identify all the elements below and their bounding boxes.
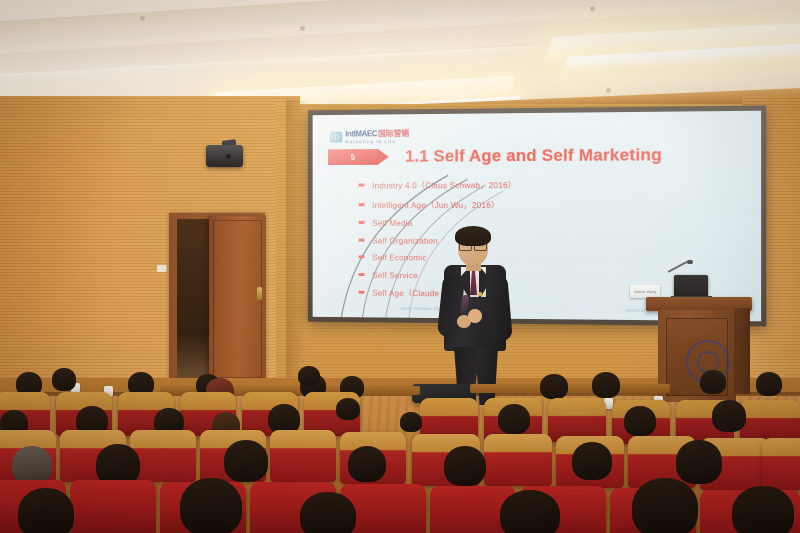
auditorium-seat[interactable] [270,430,336,482]
list-item: Self Media [359,218,517,228]
light-switch-icon[interactable] [157,265,166,272]
bullet-icon [359,291,365,294]
audience-head [336,398,360,420]
bullet-icon [359,273,365,276]
audience-head [624,406,656,436]
audience-head [180,478,242,533]
audience-head [756,372,782,396]
audience-head [18,488,74,533]
bullet-icon [359,238,365,241]
screen-logo-icon [330,131,342,142]
presenter-hand [468,309,482,323]
audience-head [498,404,530,434]
audience-head [712,400,746,432]
auditorium-seat[interactable] [130,430,196,482]
slide-title: 1.1 Self Age and Self Marketing [405,145,662,167]
bullet-icon [359,255,365,258]
audience-head [52,368,76,391]
door-handle-icon[interactable] [257,287,262,300]
audience-head [700,370,726,394]
bullet-icon [359,203,365,206]
ceiling-fixture-icon [606,88,611,93]
lecture-hall-photo: IntlMAEC 国际营销 Marketing Is Life 5 1.1 Se… [0,0,800,533]
bullet-text: Self Economic [372,252,426,262]
presenter [432,229,524,404]
bullet-text: Intelligent Age（Jun Wu，2016） [372,199,499,211]
wall-speaker-icon [206,145,243,167]
laptop-icon [674,275,708,297]
ceiling-fixture-icon [300,26,305,31]
logo-brand-cn: 国际营销 [378,128,409,139]
audience-head [540,374,568,399]
desk-rail [470,384,670,393]
audience-head [632,478,698,533]
door-opening [177,219,213,383]
audience-head [300,492,356,533]
ceiling-fixture-icon [140,16,145,21]
audience-head [400,412,422,432]
ceiling-fixture-icon [590,6,595,11]
audience-head [500,490,560,533]
microphone-icon [687,260,693,264]
slide-number: 5 [351,153,355,162]
audience-head [224,440,268,482]
audience-head [676,440,722,484]
bullet-icon [359,221,365,224]
list-item: Intelligent Age（Jun Wu，2016） [359,199,517,211]
bullet-icon [359,184,365,187]
wall-corner-shadow [286,100,308,400]
bullet-text: Self Organization [372,235,438,245]
audience-head [12,446,52,484]
glasses-icon [459,242,487,249]
lapel-badge-icon [478,292,482,296]
auditorium-seat[interactable] [70,480,156,533]
presenter-arm [485,274,513,342]
audience-head [298,366,320,386]
logo-tagline: Marketing Is Life [345,139,409,144]
slide-title-row: 5 1.1 Self Age and Self Marketing [328,145,662,167]
podium-side [734,308,750,394]
bullet-text: Self Media [372,218,412,228]
auditorium-seat[interactable] [484,434,552,486]
audience-head [444,446,486,486]
slide-number-chevron: 5 [328,149,378,165]
slide-logo: IntlMAEC 国际营销 Marketing Is Life [330,128,409,144]
bullet-text: Self Service [372,270,418,280]
audience-head [572,442,612,480]
audience-head [732,486,794,533]
audience-head [592,372,620,398]
name-card-text: Claude Wang [634,290,657,294]
auditorium-seat[interactable] [762,438,800,490]
list-item: Industry 4.0（Claus Schwab，2016） [359,179,517,191]
logo-brand: IntlMAEC [345,130,377,138]
audience-head [348,446,386,482]
bullet-text: Industry 4.0（Claus Schwab，2016） [372,179,516,191]
